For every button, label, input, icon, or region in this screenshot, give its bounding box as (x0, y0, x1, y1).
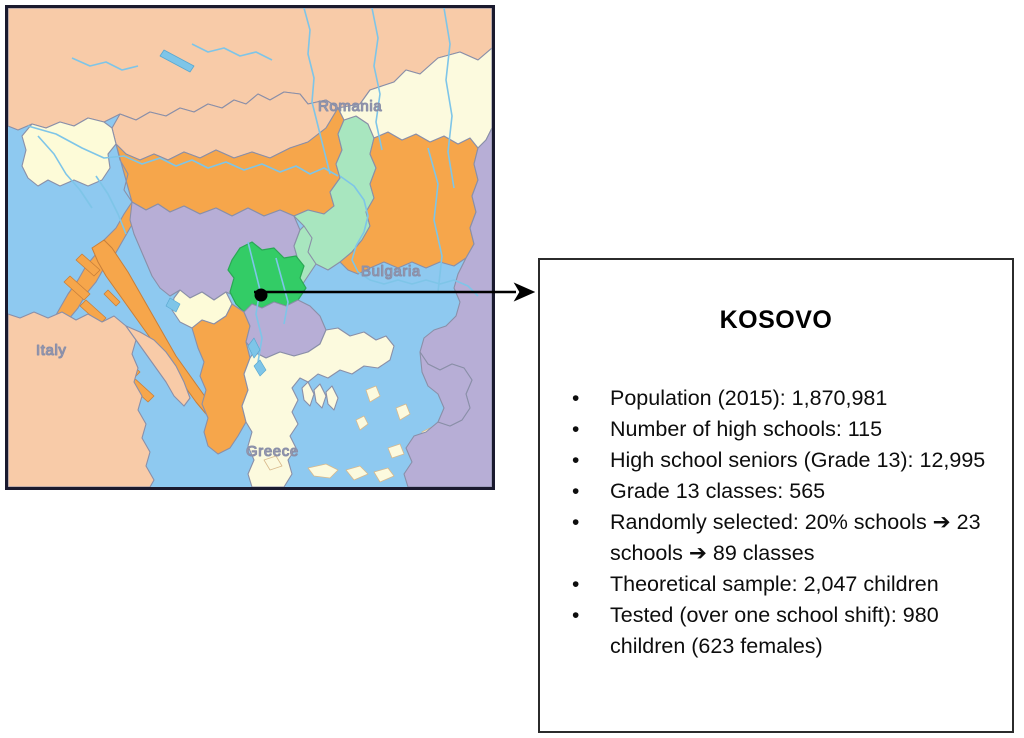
map-label-bulgaria: Bulgaria (361, 263, 421, 280)
fact-item-randomly-selected: • Randomly selected: 20% schools ➔ 23 sc… (558, 507, 998, 569)
bullet-icon: • (572, 476, 579, 507)
fact-text: Grade 13 classes: 565 (610, 479, 825, 503)
bullet-icon: • (572, 569, 579, 600)
fact-text: Tested (over one school shift): 980 chil… (610, 603, 939, 658)
kosovo-fact-list: • Population (2015): 1,870,981 • Number … (540, 383, 1012, 662)
bullet-icon: • (572, 507, 579, 538)
kosovo-info-panel: KOSOVO • Population (2015): 1,870,981 • … (538, 258, 1014, 733)
fact-text: Population (2015): 1,870,981 (610, 386, 887, 410)
fact-item-classes: • Grade 13 classes: 565 (558, 476, 998, 507)
fact-text: Theoretical sample: 2,047 children (610, 572, 939, 596)
map-label-italy: Italy (36, 342, 67, 359)
kosovo-location-dot (255, 289, 268, 302)
fact-item-tested: • Tested (over one school shift): 980 ch… (558, 600, 998, 662)
map-label-greece: Greece (246, 443, 299, 460)
bullet-icon: • (572, 600, 579, 631)
fact-item-population: • Population (2015): 1,870,981 (558, 383, 998, 414)
map-svg: Romania Bulgaria Italy Greece (8, 8, 492, 487)
fact-item-high-schools: • Number of high schools: 115 (558, 414, 998, 445)
fact-text: Number of high schools: 115 (610, 417, 882, 441)
fact-item-seniors: • High school seniors (Grade 13): 12,995 (558, 445, 998, 476)
country-italy (8, 312, 154, 487)
fact-text: Randomly selected: 20% schools ➔ 23 scho… (610, 510, 981, 565)
bullet-icon: • (572, 445, 579, 476)
panel-title: KOSOVO (540, 306, 1012, 335)
bullet-icon: • (572, 383, 579, 414)
balkans-map-figure: Romania Bulgaria Italy Greece (5, 5, 495, 490)
fact-item-theoretical-sample: • Theoretical sample: 2,047 children (558, 569, 998, 600)
fact-text: High school seniors (Grade 13): 12,995 (610, 448, 985, 472)
map-label-romania: Romania (318, 98, 382, 115)
bullet-icon: • (572, 414, 579, 445)
